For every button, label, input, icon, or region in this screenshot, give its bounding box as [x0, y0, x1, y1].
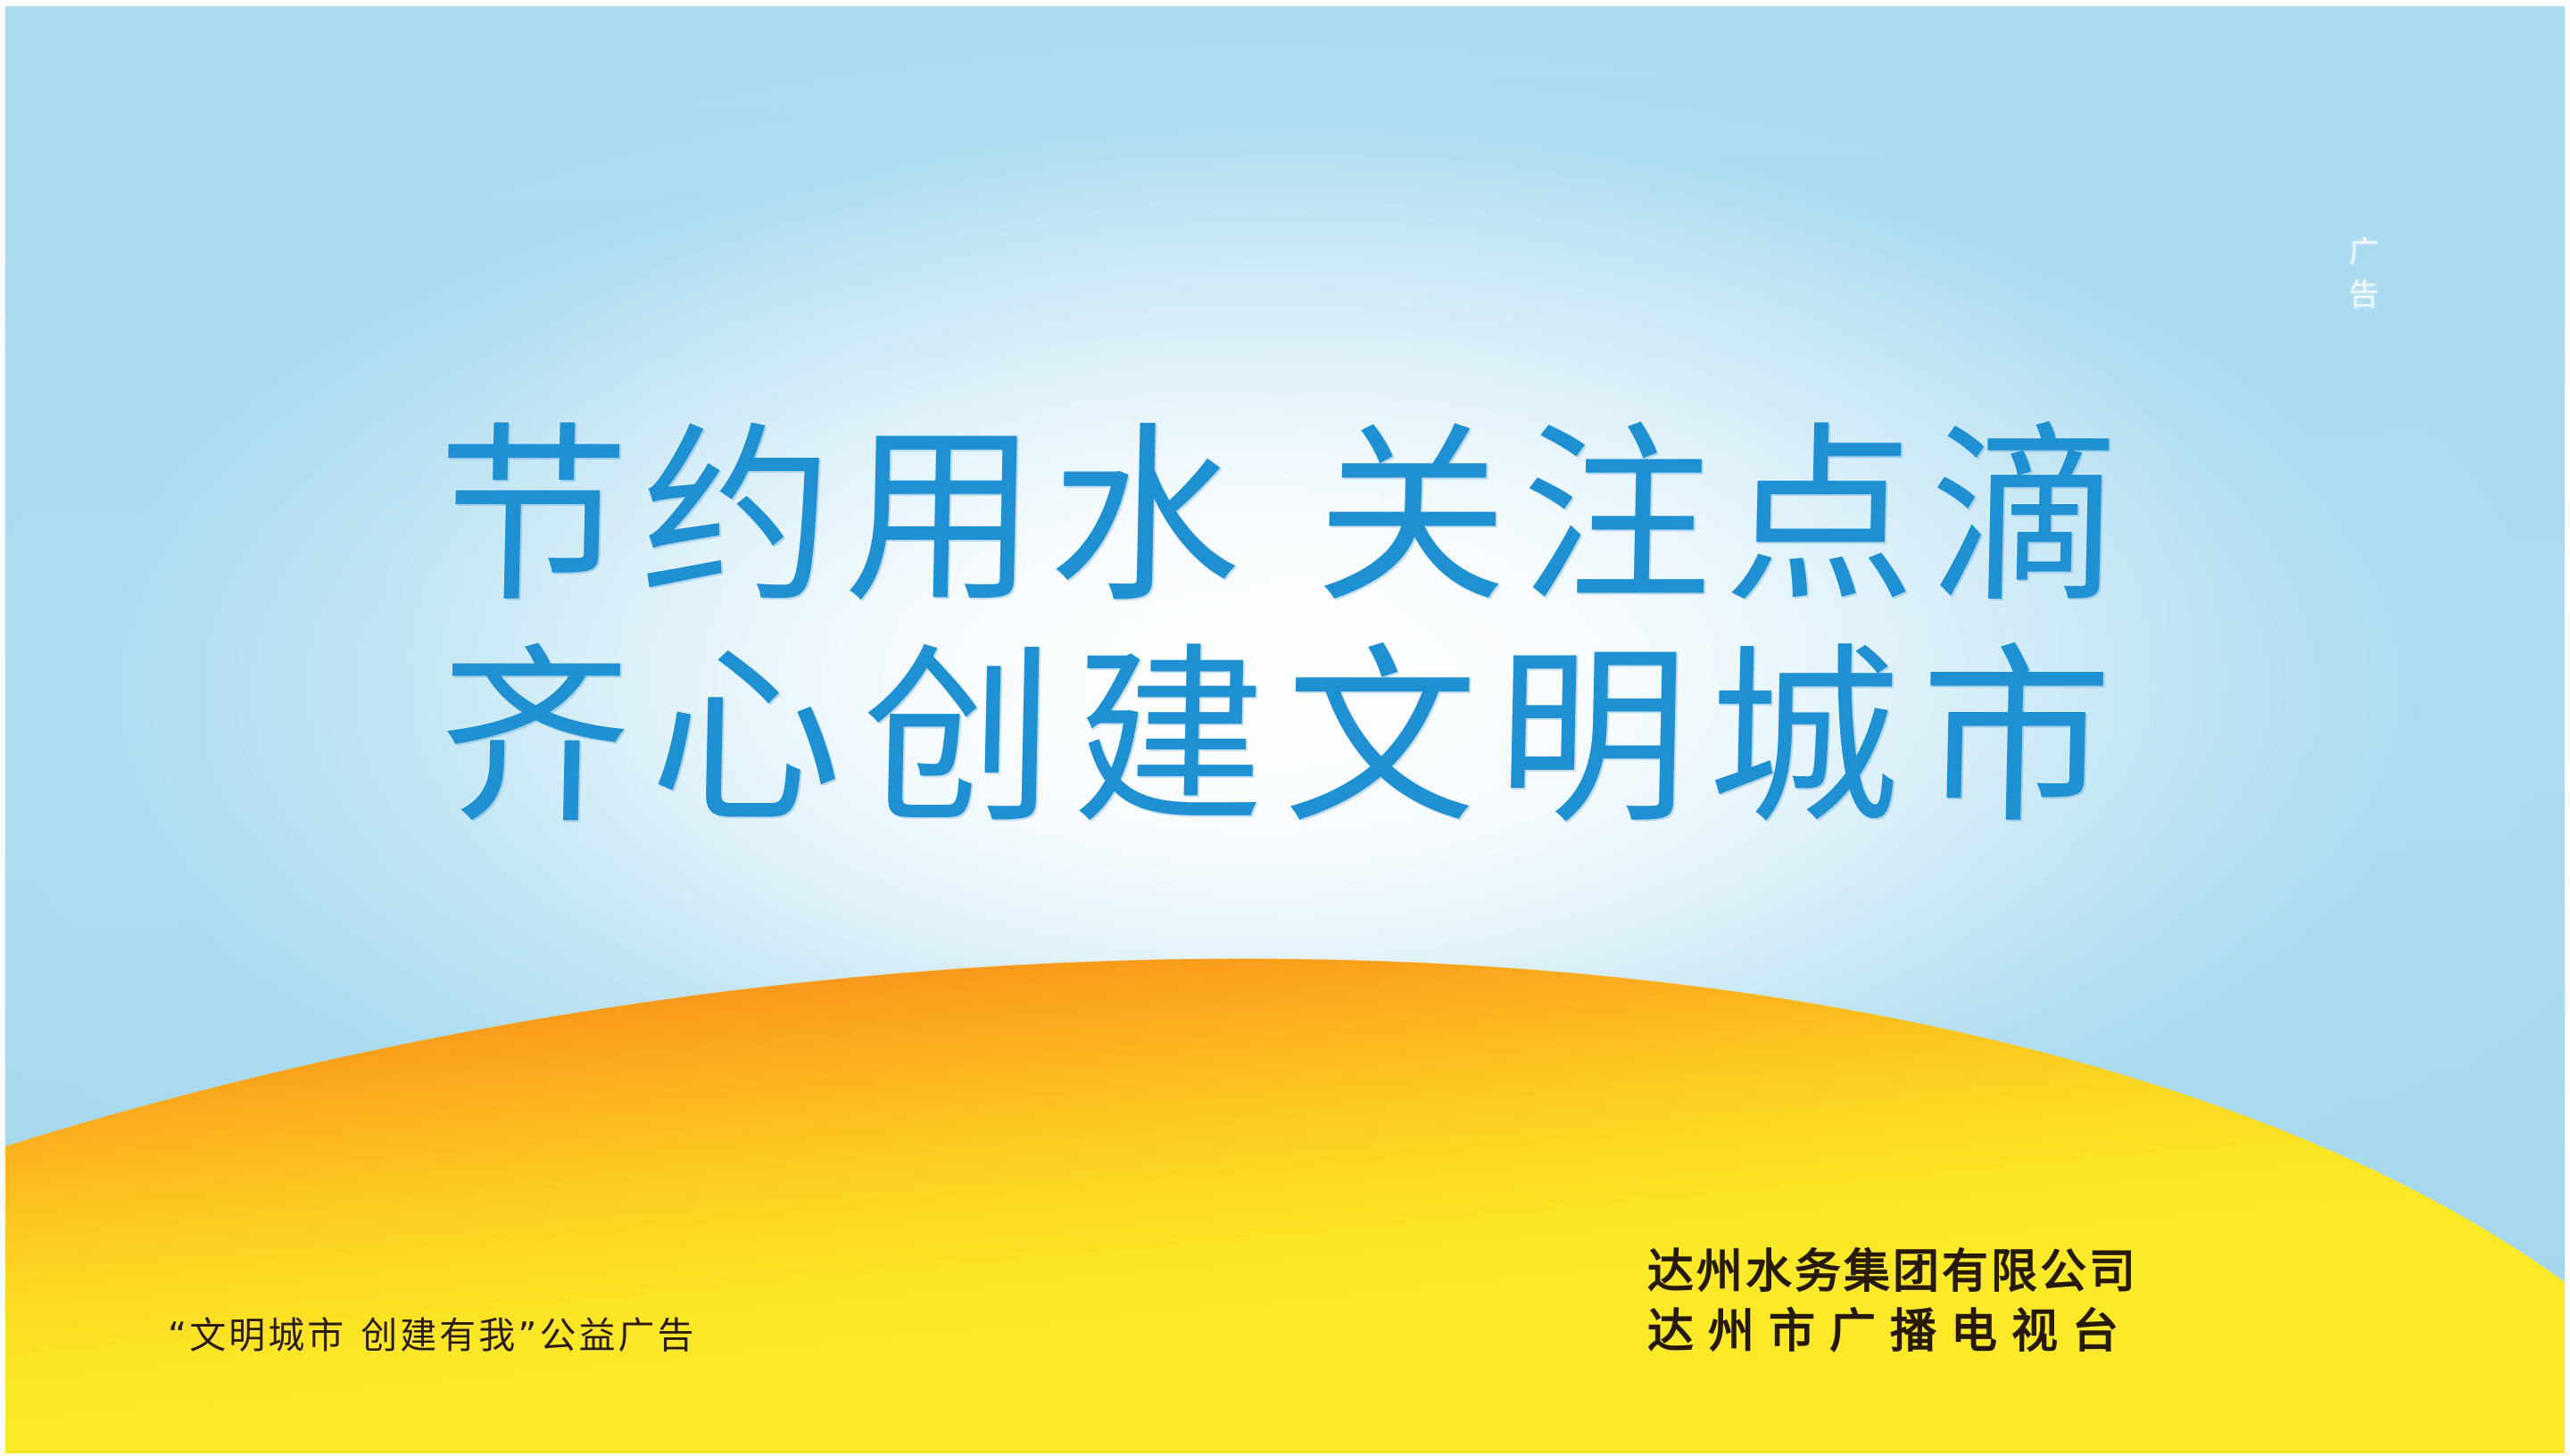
poster-canvas: 广 告 节约用水关注点滴 齐心创建文明城市 “文明城市 创建有我”公益广告 达州…	[5, 6, 2565, 1453]
yellow-swoosh-shape	[5, 954, 2565, 1453]
headline-line-2: 齐心创建文明城市	[5, 631, 2565, 847]
advertisement-watermark-char-2: 告	[2338, 274, 2390, 317]
sponsor-organization-2: 达州市广播电视台	[1647, 1303, 2138, 1362]
advertisement-watermark-char-1: 广	[2338, 231, 2390, 274]
headline-block: 节约用水关注点滴 齐心创建文明城市	[5, 409, 2565, 847]
sponsor-organizations: 达州水务集团有限公司 达州市广播电视台	[1647, 1243, 2138, 1362]
poster-stage: 广 告 节约用水关注点滴 齐心创建文明城市 “文明城市 创建有我”公益广告 达州…	[0, 0, 2570, 1456]
campaign-slogan: “文明城市 创建有我”公益广告	[168, 1312, 697, 1359]
headline-line-1-phrase-2: 关注点滴	[1314, 405, 2135, 629]
yellow-swoosh-band	[5, 954, 2565, 1453]
headline-line-1: 节约用水关注点滴	[5, 409, 2565, 625]
advertisement-watermark: 广 告	[2338, 231, 2390, 317]
headline-line-1-phrase-1: 节约用水	[434, 405, 1256, 629]
sponsor-organization-1: 达州水务集团有限公司	[1647, 1243, 2138, 1303]
